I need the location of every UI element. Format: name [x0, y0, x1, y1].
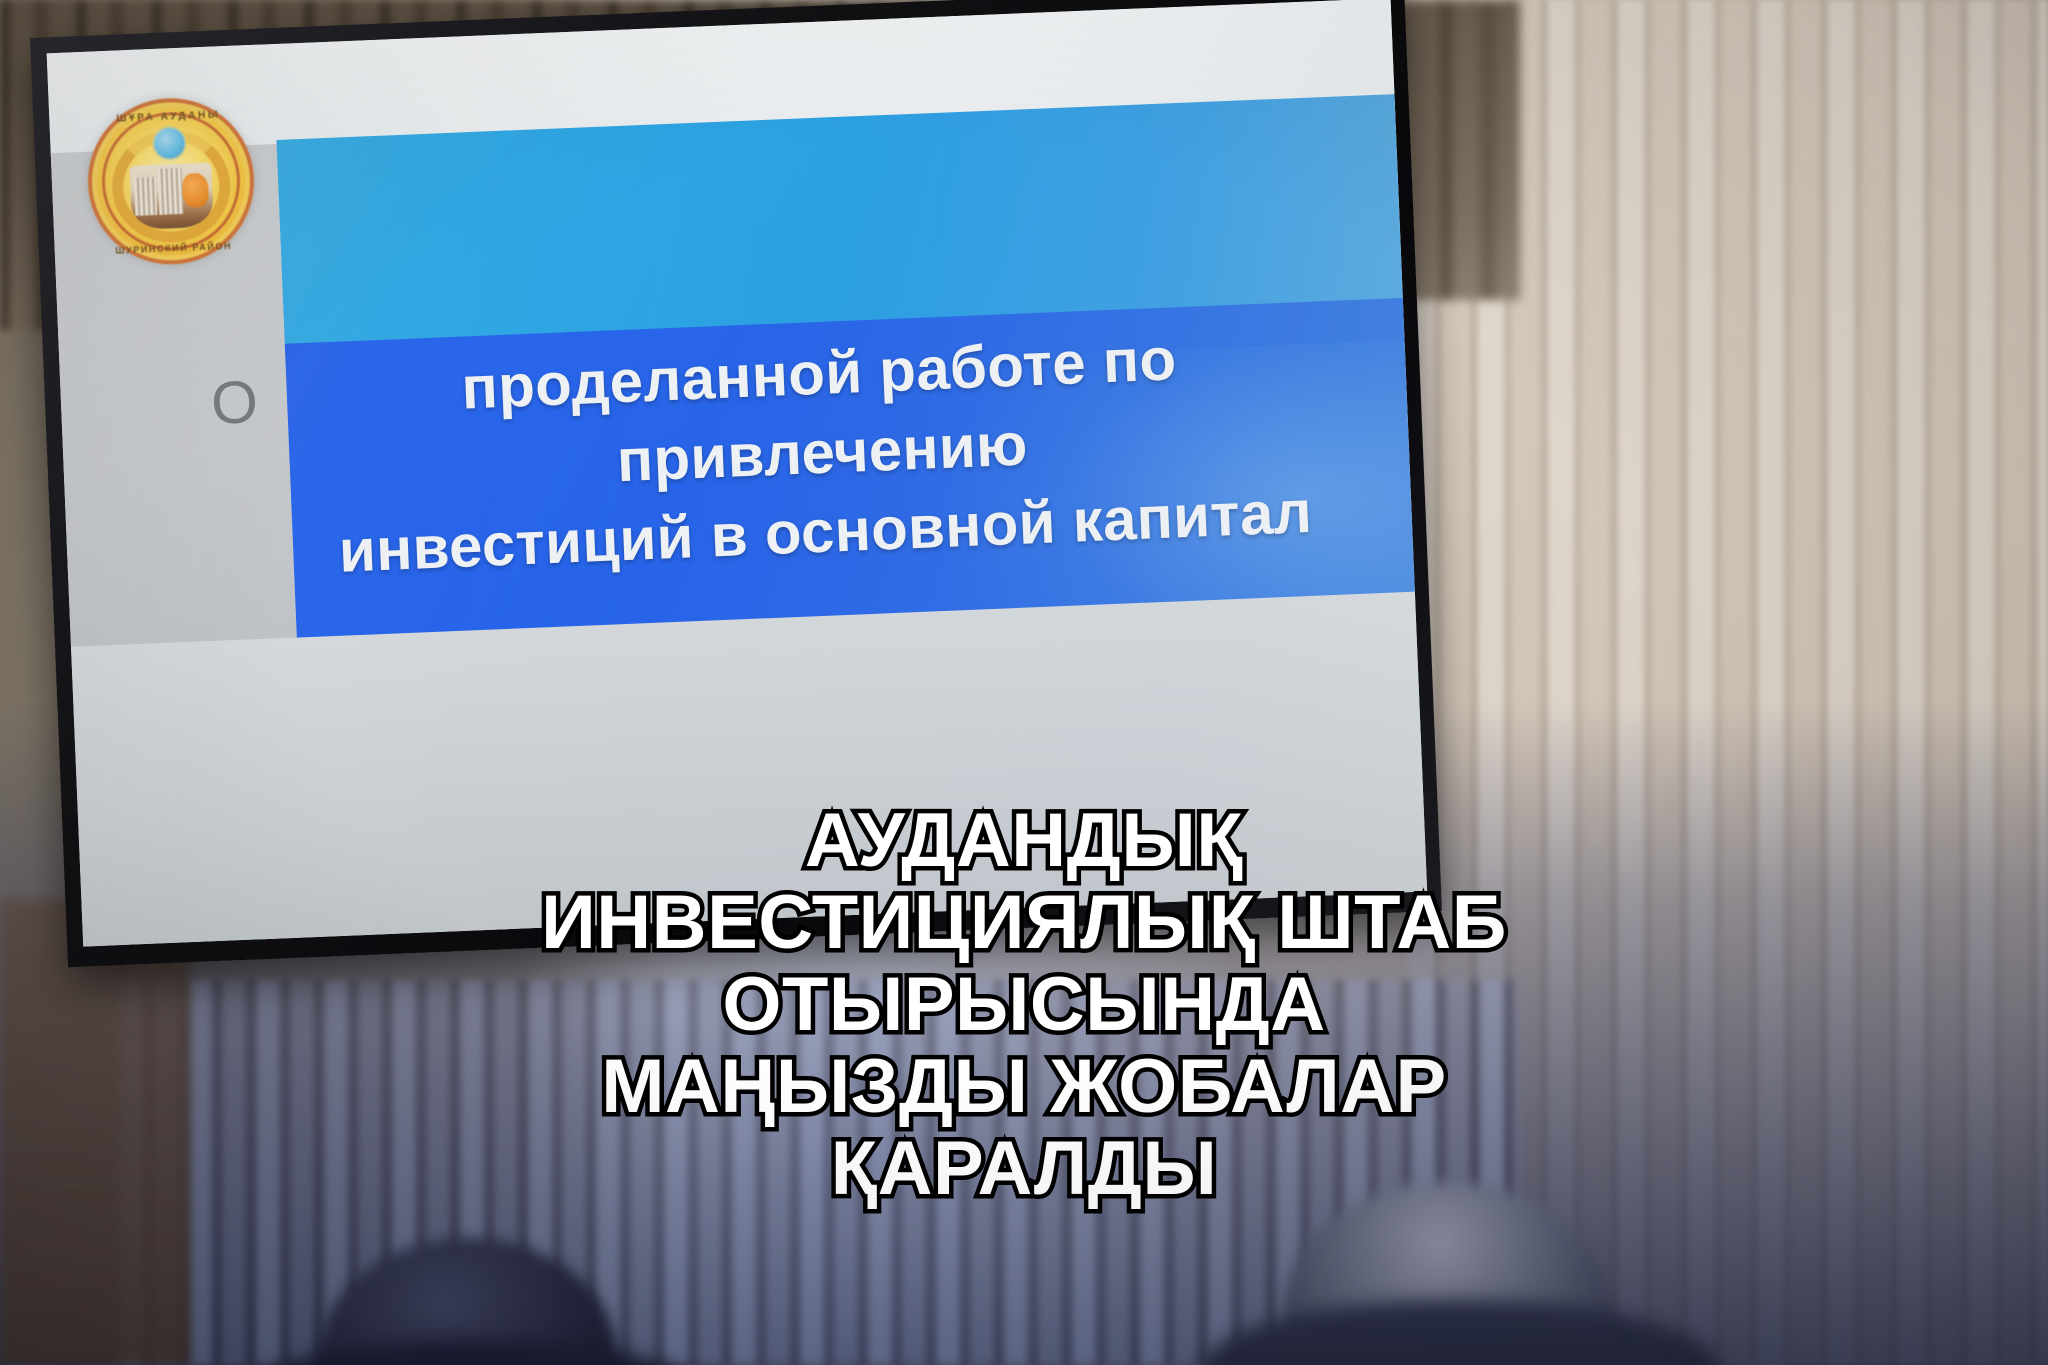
- caption-line-5: ҚАРАЛДЫ: [0, 1128, 2048, 1210]
- caption-line-4: МАҢЫЗДЫ ЖОБАЛАР: [0, 1046, 2048, 1128]
- caption-line-3: ОТЫРЫСЫНДА: [0, 964, 2048, 1046]
- emblem-building-2: [157, 168, 183, 215]
- slide-title: проделанной работе по привлечению инвест…: [295, 313, 1349, 593]
- emblem-building-1: [134, 177, 158, 216]
- caption-line-1: АУДАНДЫҚ: [0, 800, 2048, 882]
- screenshot-stage: ШҰРА АУДАНЫ ШУРИНСКИЙ РАЙОН О проделанно…: [0, 0, 2048, 1365]
- emblem-fruit-icon: [182, 173, 209, 208]
- slide-title-lead-letter: О: [210, 367, 259, 438]
- emblem-city-scene: [129, 163, 214, 230]
- caption-overlay: АУДАНДЫҚ ИНВЕСТИЦИЯЛЫҚ ШТАБ ОТЫРЫСЫНДА М…: [0, 800, 2048, 1210]
- caption-line-2: ИНВЕСТИЦИЯЛЫҚ ШТАБ: [0, 882, 2048, 964]
